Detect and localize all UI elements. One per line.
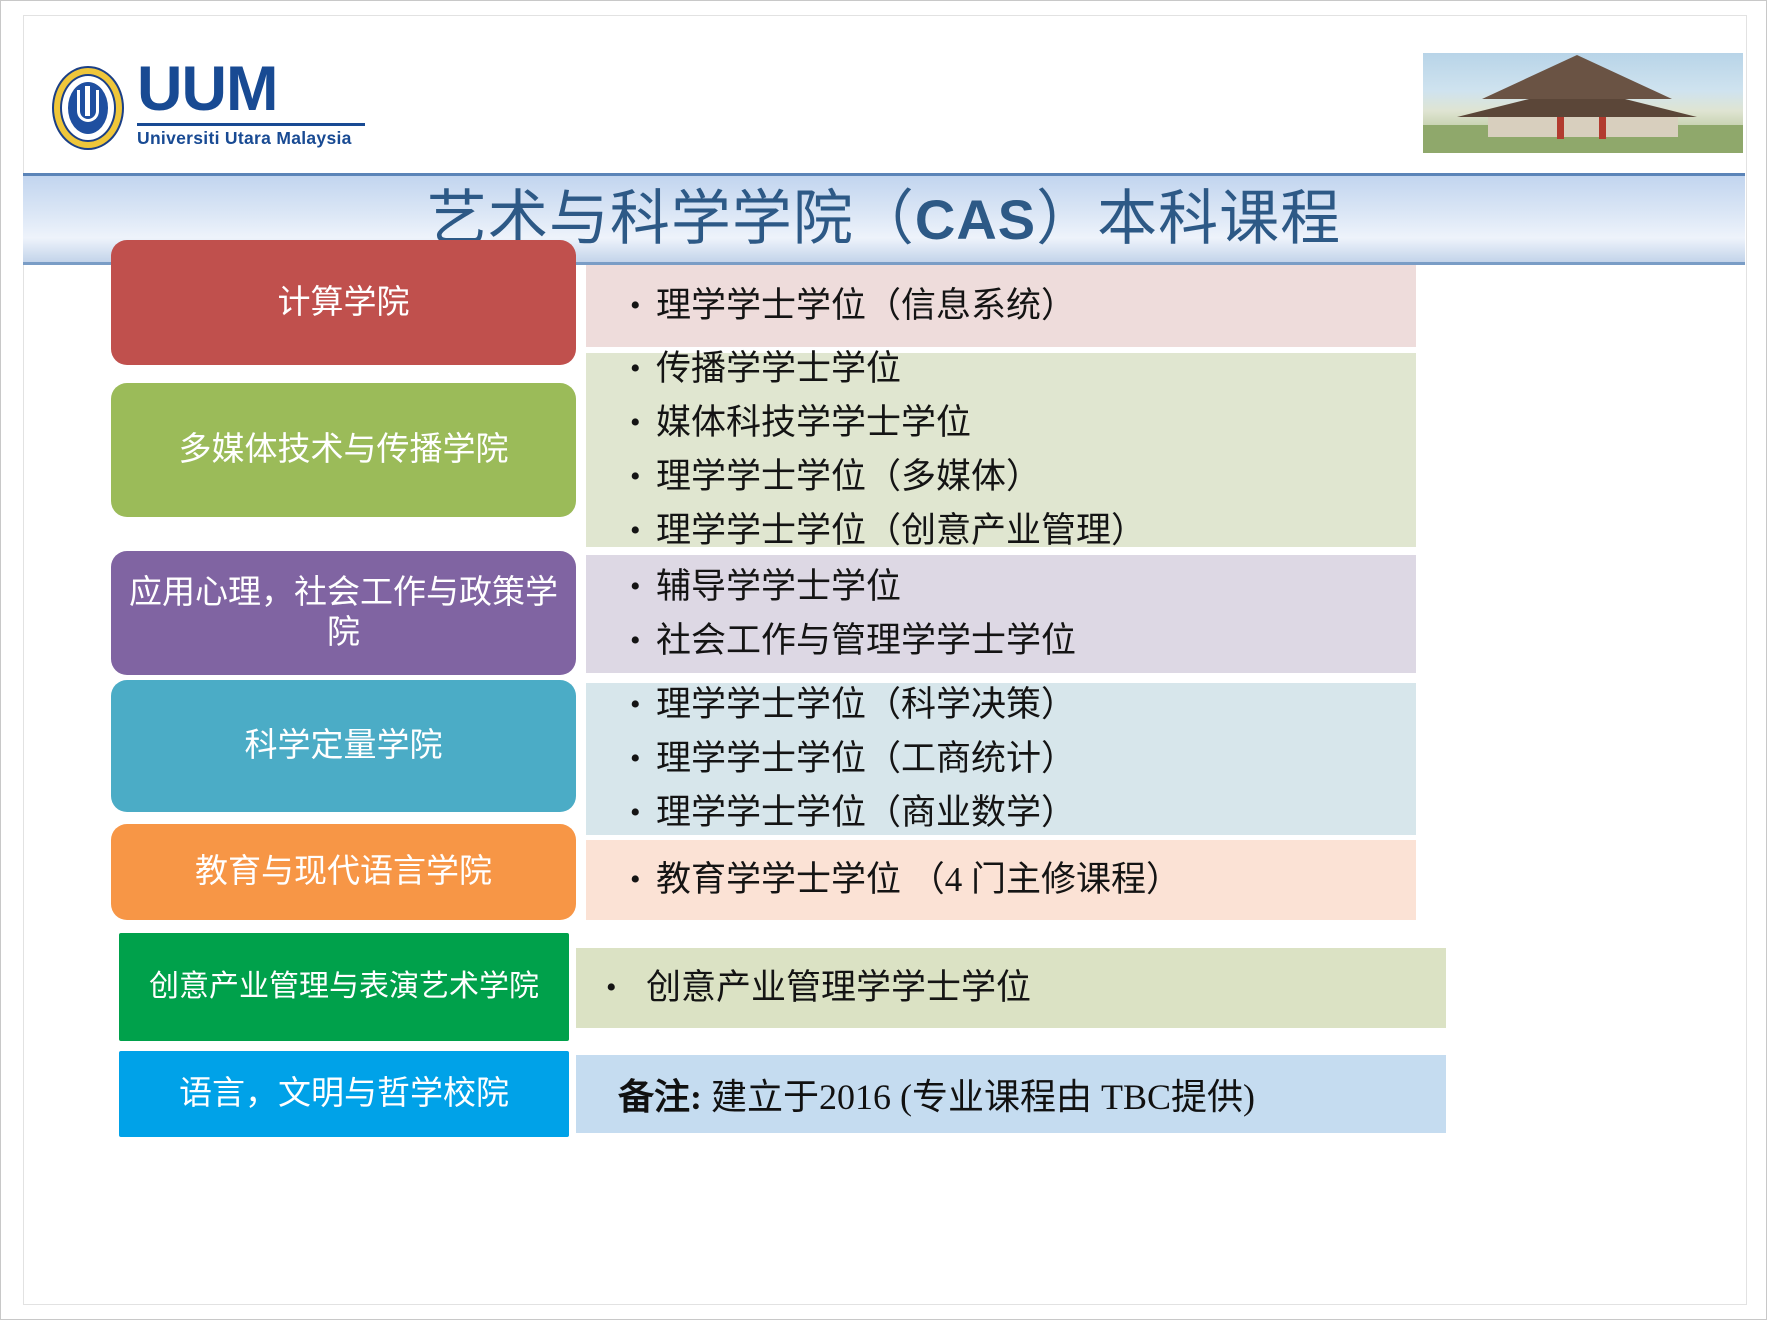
programs-panel-creative: 创意产业管理学学士学位 bbox=[576, 948, 1446, 1028]
note-body: 建立于2016 (专业课程由 TBC提供) bbox=[711, 1077, 1255, 1117]
uum-wordmark-group: UUM Universiti Utara Malaysia bbox=[137, 56, 387, 148]
program-item: 传播学学士学位 bbox=[656, 342, 1398, 396]
school-label: 语言，文明与哲学校院 bbox=[179, 1074, 509, 1114]
school-label: 教育与现代语言学院 bbox=[195, 852, 492, 892]
program-item: 辅导学学士学位 bbox=[656, 560, 1398, 614]
program-item: 媒体科技学学士学位 bbox=[656, 396, 1398, 450]
school-box-quantitative[interactable]: 科学定量学院 bbox=[111, 680, 576, 812]
program-item: 理学学士学位（创意产业管理） bbox=[656, 504, 1398, 558]
program-item: 理学学士学位（工商统计） bbox=[656, 732, 1398, 786]
school-box-education[interactable]: 教育与现代语言学院 bbox=[111, 824, 576, 920]
program-item: 社会工作与管理学学士学位 bbox=[656, 614, 1398, 668]
school-label: 创意产业管理与表演艺术学院 bbox=[149, 967, 539, 1007]
programs-panel-education: 教育学学士学位 （4 门主修课程） bbox=[586, 840, 1416, 920]
uum-subtitle: Universiti Utara Malaysia bbox=[137, 128, 387, 148]
program-item: 理学学士学位（多媒体） bbox=[656, 450, 1398, 504]
program-item: 创意产业管理学学士学位 bbox=[646, 961, 1428, 1015]
programs-panel-computing: 理学学士学位（信息系统） bbox=[586, 265, 1416, 347]
program-item: 理学学士学位（商业数学） bbox=[656, 786, 1398, 840]
note-label: 备注: bbox=[618, 1077, 702, 1117]
programs-panel-quantitative: 理学学士学位（科学决策） 理学学士学位（工商统计） 理学学士学位（商业数学） bbox=[586, 683, 1416, 835]
page-title-part2: ）本科课程 bbox=[1036, 186, 1341, 252]
uum-logo: UUM Universiti Utara Malaysia bbox=[49, 56, 379, 156]
uum-crest-icon bbox=[49, 64, 127, 152]
note-text: 备注: 建立于2016 (专业课程由 TBC提供) bbox=[618, 1068, 1255, 1120]
uum-wordmark: UUM bbox=[137, 56, 387, 122]
programs-panel-multimedia: 传播学学士学位 媒体科技学学士学位 理学学士学位（多媒体） 理学学士学位（创意产… bbox=[586, 353, 1416, 547]
program-item: 理学学士学位（信息系统） bbox=[656, 279, 1398, 333]
school-box-creative[interactable]: 创意产业管理与表演艺术学院 bbox=[119, 933, 569, 1041]
school-box-computing[interactable]: 计算学院 bbox=[111, 240, 576, 365]
campus-photo bbox=[1423, 53, 1743, 153]
presentation-slide: UUM Universiti Utara Malaysia 艺术与科学学院（CA… bbox=[0, 0, 1767, 1320]
school-label: 应用心理，社会工作与政策学院 bbox=[125, 573, 562, 653]
school-label: 多媒体技术与传播学院 bbox=[179, 430, 509, 470]
school-box-multimedia[interactable]: 多媒体技术与传播学院 bbox=[111, 383, 576, 517]
program-item: 理学学士学位（科学决策） bbox=[656, 678, 1398, 732]
school-box-languages[interactable]: 语言，文明与哲学校院 bbox=[119, 1051, 569, 1137]
school-label: 科学定量学院 bbox=[245, 726, 443, 766]
note-panel: 备注: 建立于2016 (专业课程由 TBC提供) bbox=[576, 1055, 1446, 1133]
program-item: 教育学学士学位 （4 门主修课程） bbox=[656, 853, 1398, 907]
page-title-accent: CAS bbox=[915, 188, 1036, 251]
school-box-psychology[interactable]: 应用心理，社会工作与政策学院 bbox=[111, 551, 576, 675]
programs-panel-psychology: 辅导学学士学位 社会工作与管理学学士学位 bbox=[586, 555, 1416, 673]
schools-chart: 理学学士学位（信息系统） 计算学院 传播学学士学位 媒体科技学学士学位 理学学士… bbox=[1, 265, 1767, 1315]
school-label: 计算学院 bbox=[278, 283, 410, 323]
